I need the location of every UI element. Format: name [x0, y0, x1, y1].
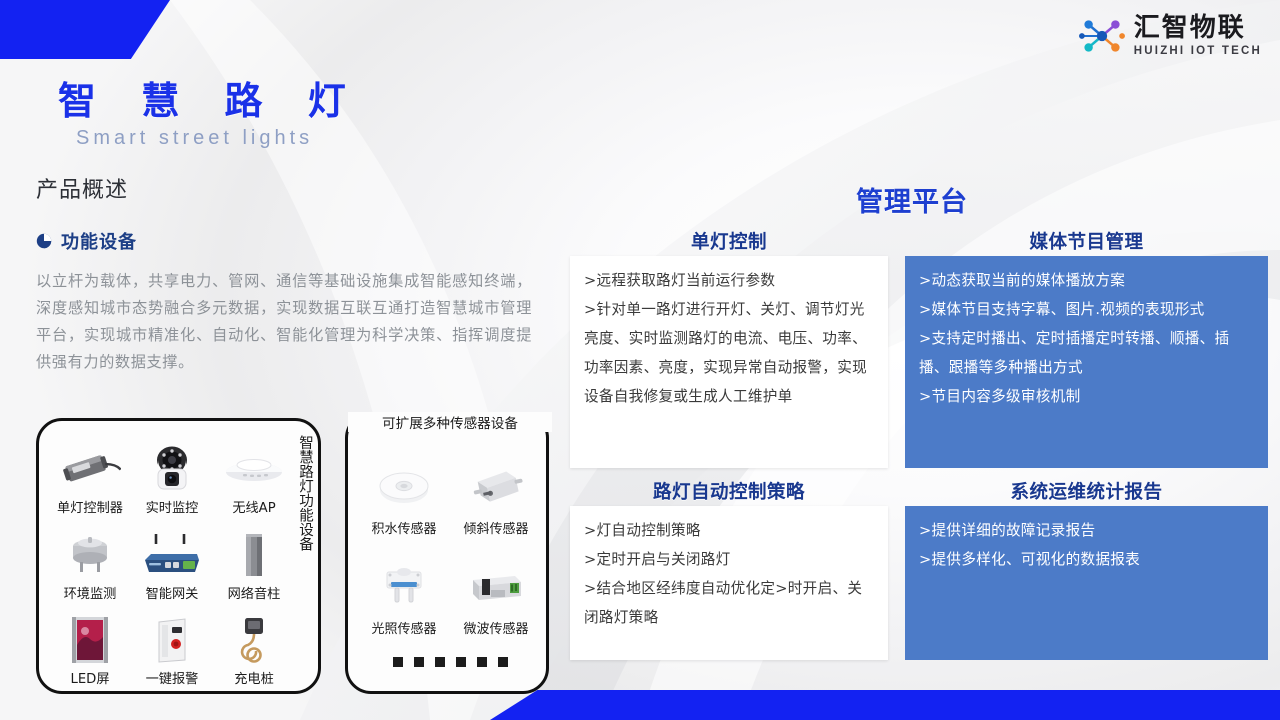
platform-title: 管理平台 [752, 180, 1072, 219]
panel-line: >结合地区经纬度自动优化定>时开启、关闭路灯策略 [584, 574, 876, 632]
device-label: 一键报警 [146, 668, 199, 687]
page-title: 智 慧 路 灯 [58, 70, 362, 125]
sensor-label: 微波传感器 [463, 618, 528, 637]
light-sensor-icon [358, 556, 450, 616]
panel-line: >远程获取路灯当前运行参数 [584, 266, 876, 295]
overview-paragraph: 以立杆为载体，共享电力、管网、通信等基础设施集成智能感知终端，深度感知城市态势融… [36, 268, 532, 376]
device-label: 网络音柱 [228, 583, 281, 602]
feature-heading: 功能设备 [36, 228, 137, 254]
device-box-side-label: 智慧路灯功能设备 [291, 435, 313, 551]
panel-auto-strategy: >灯自动控制策略 >定时开启与关闭路灯 >结合地区经纬度自动优化定>时开启、关闭… [570, 506, 888, 660]
emergency-call-icon [131, 614, 213, 666]
marker-square [393, 657, 403, 667]
smart-gateway-icon [131, 529, 213, 581]
more-sensors-markers [348, 657, 552, 667]
panel-line: >提供多样化、可视化的数据报表 [919, 545, 1256, 574]
marker-square [414, 657, 424, 667]
logo-text-cn: 汇智物联 [1134, 15, 1262, 41]
sensor-label: 光照传感器 [371, 618, 436, 637]
device-item[interactable]: 单灯控制器 [49, 431, 131, 516]
device-label: 无线AP [232, 497, 275, 516]
device-item[interactable]: 实时监控 [131, 431, 213, 516]
device-label: 实时监控 [146, 497, 199, 516]
sensor-item[interactable]: 积水传感器 [358, 437, 450, 537]
sensor-label: 倾斜传感器 [463, 518, 528, 537]
environment-sensor-icon [49, 529, 131, 581]
page-subtitle: Smart street lights [76, 127, 313, 150]
marker-square [498, 657, 508, 667]
device-grid: 单灯控制器 [49, 431, 295, 687]
panel-line: >针对单一路灯进行开灯、关灯、调节灯光亮度、实时监测路灯的电流、电压、功率、功率… [584, 295, 876, 411]
wireless-ap-icon [213, 443, 295, 495]
feature-heading-label: 功能设备 [61, 228, 137, 254]
device-label: 充电桩 [234, 668, 274, 687]
panel-heading-single-lamp: 单灯控制 [570, 228, 888, 254]
molecule-network-icon [1079, 14, 1125, 58]
panel-media-program: >动态获取当前的媒体播放方案 >媒体节目支持字幕、图片.视频的表现形式 >支持定… [905, 256, 1268, 468]
bottom-accent-bar [490, 690, 1280, 720]
device-label: 环境监测 [64, 583, 117, 602]
panel-line: >定时开启与关闭路灯 [584, 545, 876, 574]
device-item[interactable]: 无线AP [213, 431, 295, 516]
top-left-accent-shape [0, 0, 170, 59]
panel-line: >支持定时播出、定时插播定时转播、顺播、插播、跟播等多种播出方式 [919, 324, 1256, 382]
sensor-item[interactable]: 倾斜传感器 [450, 437, 542, 537]
device-item[interactable]: 网络音柱 [213, 516, 295, 601]
ptz-camera-icon [131, 443, 213, 495]
device-item[interactable]: LED屏 [49, 602, 131, 687]
charging-pile-icon [213, 614, 295, 666]
sensor-showcase-box: 可扩展多种传感器设备 积水传感器 [345, 412, 549, 694]
panel-line: >媒体节目支持字幕、图片.视频的表现形式 [919, 295, 1256, 324]
panel-line: >节目内容多级审核机制 [919, 382, 1256, 411]
panel-line: >灯自动控制策略 [584, 516, 876, 545]
device-label: 智能网关 [146, 583, 199, 602]
led-screen-icon [49, 614, 131, 666]
panel-heading-ops-report: 系统运维统计报告 [905, 478, 1268, 504]
marker-square [477, 657, 487, 667]
sensor-item[interactable]: 微波传感器 [450, 537, 542, 637]
panel-line: >动态获取当前的媒体播放方案 [919, 266, 1256, 295]
device-showcase-box: 单灯控制器 [36, 418, 321, 694]
marker-square [435, 657, 445, 667]
panel-heading-auto-strategy: 路灯自动控制策略 [570, 478, 888, 504]
sensor-item[interactable]: 光照传感器 [358, 537, 450, 637]
marker-square [456, 657, 466, 667]
panel-ops-report: >提供详细的故障记录报告 >提供多样化、可视化的数据报表 [905, 506, 1268, 660]
logo-text-en: HUIZHI IOT TECH [1134, 46, 1262, 58]
pie-chart-icon [36, 233, 52, 249]
tilt-sensor-icon [450, 456, 542, 516]
device-label: 单灯控制器 [57, 497, 123, 516]
sensor-grid: 积水传感器 [358, 437, 542, 637]
microwave-sensor-icon [450, 556, 542, 616]
panel-single-lamp: >远程获取路灯当前运行参数 >针对单一路灯进行开灯、关灯、调节灯光亮度、实时监测… [570, 256, 888, 468]
section-title-overview: 产品概述 [36, 172, 128, 204]
water-level-sensor-icon [358, 456, 450, 516]
slide-canvas: 汇智物联 HUIZHI IOT TECH 智 慧 路 灯 Smart stree… [0, 0, 1280, 720]
device-label: LED屏 [70, 668, 109, 687]
panel-heading-media-program: 媒体节目管理 [905, 228, 1268, 254]
device-item[interactable]: 环境监测 [49, 516, 131, 601]
sensor-box-title: 可扩展多种传感器设备 [348, 412, 552, 432]
device-item[interactable]: 智能网关 [131, 516, 213, 601]
device-item[interactable]: 一键报警 [131, 602, 213, 687]
panel-line: >提供详细的故障记录报告 [919, 516, 1256, 545]
device-item[interactable]: 充电桩 [213, 602, 295, 687]
company-logo[interactable]: 汇智物联 HUIZHI IOT TECH [1079, 14, 1262, 58]
network-speaker-icon [213, 529, 295, 581]
led-driver-icon [49, 443, 131, 495]
sensor-label: 积水传感器 [371, 518, 436, 537]
